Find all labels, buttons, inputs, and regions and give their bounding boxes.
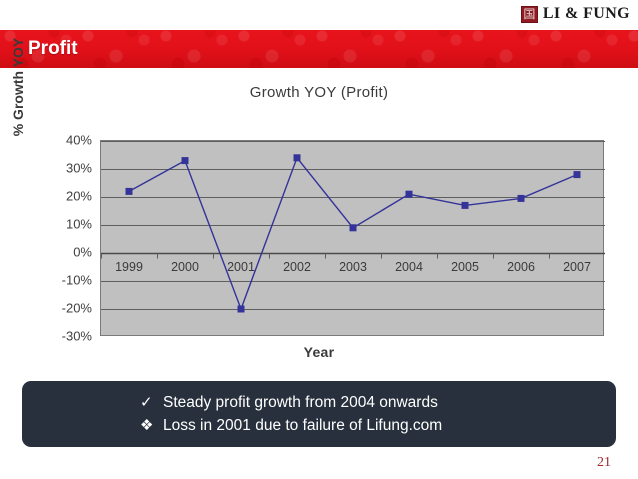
- diamond-bullet-icon: ❖: [140, 414, 155, 437]
- y-axis-tick-label: 30%: [38, 161, 92, 176]
- list-item: ✓ Steady profit growth from 2004 onwards: [140, 391, 616, 414]
- x-axis-tick-label: 2001: [227, 260, 255, 274]
- slide-title-band: Profit: [0, 30, 638, 68]
- x-axis-tick-label: 2000: [171, 260, 199, 274]
- y-axis-tick-labels: 40%30%20%10%0%-10%-20%-30%: [40, 132, 96, 344]
- chart-title: Growth YOY (Profit): [0, 84, 638, 101]
- line-chart-svg: [101, 141, 605, 337]
- list-item-label: Steady profit growth from 2004 onwards: [163, 391, 438, 414]
- y-axis-tick-label: 0%: [38, 245, 92, 260]
- y-axis-tick-label: 10%: [38, 217, 92, 232]
- brand-name: LI & FUNG: [543, 5, 630, 23]
- slide: 国 LI & FUNG Profit Growth YOY (Profit) %…: [0, 0, 638, 479]
- y-axis-title: % Growth YOY: [10, 2, 32, 172]
- y-axis-tick-label: 40%: [38, 133, 92, 148]
- li-and-fung-seal-icon: 国: [521, 6, 538, 23]
- x-axis-tick-label: 2003: [339, 260, 367, 274]
- check-icon: ✓: [140, 391, 155, 414]
- list-item-label: Loss in 2001 due to failure of Lifung.co…: [163, 414, 442, 437]
- x-axis-tick-label: 2002: [283, 260, 311, 274]
- brand-logo: 国 LI & FUNG: [521, 5, 630, 23]
- x-axis-tick-label: 1999: [115, 260, 143, 274]
- y-axis-tick-label: 20%: [38, 189, 92, 204]
- x-axis-tick-label: 2007: [563, 260, 591, 274]
- x-axis-tick-label: 2004: [395, 260, 423, 274]
- page-number: 21: [597, 455, 611, 471]
- x-axis-tick-label: 2006: [507, 260, 535, 274]
- chart-plot-area: 199920002001200220032004200520062007: [100, 140, 604, 336]
- x-axis-tick-label: 2005: [451, 260, 479, 274]
- y-axis-tick-label: -10%: [38, 273, 92, 288]
- x-axis-title: Year: [0, 344, 638, 360]
- insights-callout: ✓ Steady profit growth from 2004 onwards…: [22, 381, 616, 447]
- y-axis-tick-label: -30%: [38, 329, 92, 344]
- list-item: ❖ Loss in 2001 due to failure of Lifung.…: [140, 414, 616, 437]
- y-axis-tick-label: -20%: [38, 301, 92, 316]
- page-title: Profit: [28, 38, 78, 60]
